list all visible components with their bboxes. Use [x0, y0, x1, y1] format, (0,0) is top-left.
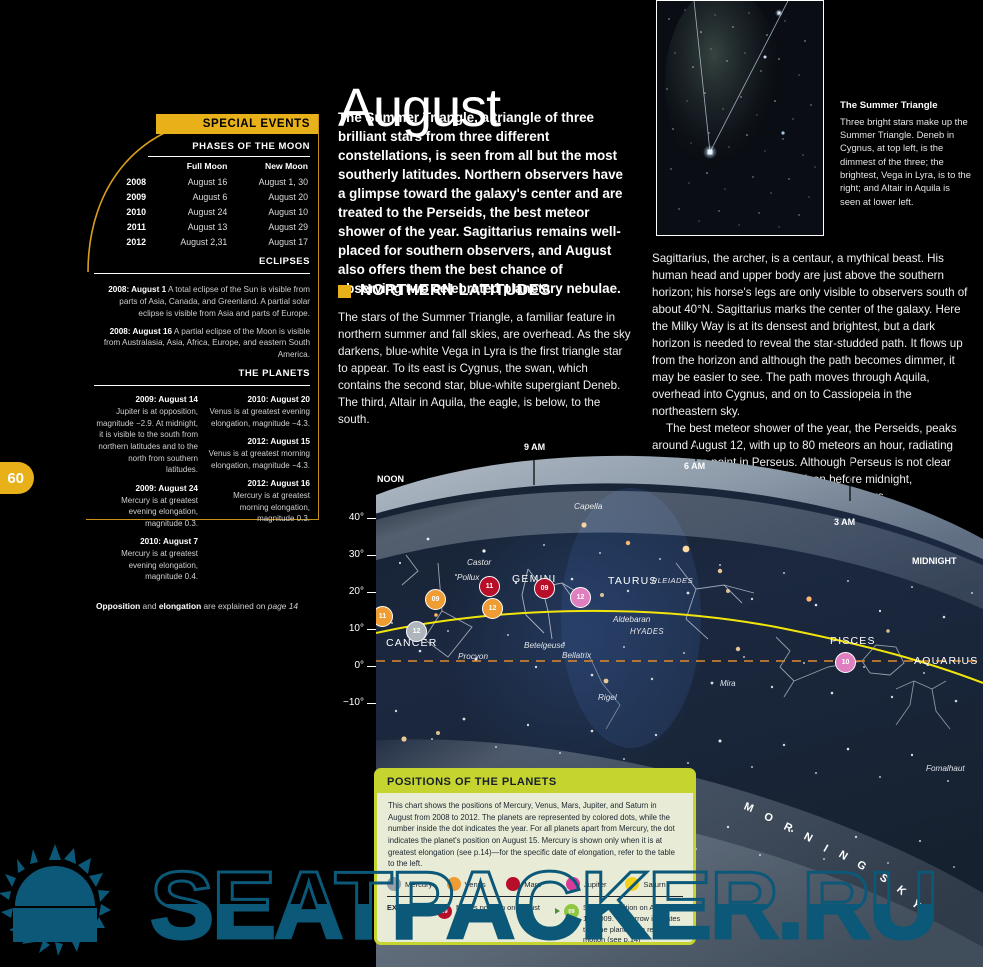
y-tick-label: 0° [354, 660, 364, 671]
star-label-mira: Mira [720, 679, 736, 688]
y-tick-label: 30° [349, 549, 364, 560]
planet-event-text: Jupiter is at opposition, magnitude −2.9… [96, 407, 198, 474]
eclipses-heading: ECLIPSES [86, 249, 318, 271]
planet-event-text: Mercury is at greatest evening elongatio… [121, 496, 198, 528]
planet-marker[interactable]: 09 [534, 578, 555, 599]
examples-section: EXAMPLES 09 Mars's position on August 15… [377, 897, 693, 945]
star-label-pleiades: PLEIADES [652, 576, 693, 585]
star-label-hyades: HYADES [630, 627, 664, 636]
mars-example-dot-icon: 09 [437, 904, 452, 919]
example-saturn: 09 Saturn's position on August 15, 2009.… [555, 903, 683, 945]
table-row: 2008 August 16 August 1, 30 [86, 175, 318, 190]
eclipse-date: 2008: August 16 [110, 327, 173, 336]
cell-new-moon: August 10 [237, 205, 318, 220]
planet-legend: Mercury Venus Mars Jupiter Saturn [377, 870, 693, 891]
mercury-dot-icon [387, 877, 401, 891]
legend-item-mercury: Mercury [387, 877, 445, 891]
y-tick-label: 40° [349, 512, 364, 523]
footnote-term-2: elongation [159, 601, 201, 611]
moon-phases-table: Full Moon New Moon 2008 August 16 August… [86, 157, 318, 249]
planet-marker[interactable]: 12 [482, 598, 503, 619]
y-tick-label: 10° [349, 623, 364, 634]
row-year: 2010 [86, 205, 160, 220]
example-mars: 09 Mars's position on August 15, 2009 [437, 903, 549, 924]
y-tick-label: 20° [349, 586, 364, 597]
planet-event-date: 2012: August 15 [206, 436, 310, 448]
row-year: 2009 [86, 190, 160, 205]
star-label-pollux: Pollux [457, 573, 479, 582]
square-bullet-icon [338, 285, 351, 298]
col-full-moon: Full Moon [160, 157, 237, 175]
planet-marker[interactable]: 12 [570, 587, 591, 608]
legend-item-saturn: Saturn [625, 877, 683, 891]
row-year: 2011 [86, 219, 160, 234]
retrograde-arrow-icon [555, 908, 560, 914]
legend-label: Venus [465, 880, 486, 889]
photo-caption-text: Three bright stars make up the Summer Tr… [840, 116, 971, 207]
cell-full-moon: August 2,31 [160, 234, 237, 249]
planet-marker[interactable]: 09 [425, 589, 446, 610]
jupiter-dot-icon [566, 877, 580, 891]
planet-marker[interactable]: 11 [479, 576, 500, 597]
legend-label: Mercury [405, 880, 432, 889]
venus-dot-icon [447, 877, 461, 891]
time-label-noon: NOON [377, 474, 404, 484]
examples-label: EXAMPLES [387, 903, 431, 912]
star-label-rigel: Rigel [598, 693, 617, 702]
col-year [86, 157, 160, 175]
legend-label: Mars [524, 880, 541, 889]
eclipse-entry: 2008: August 1 A total eclipse of the Su… [86, 278, 318, 320]
footnote-term-1: Opposition [96, 601, 140, 611]
page-number: 60 [7, 470, 24, 487]
summer-triangle-photo [656, 0, 824, 236]
cell-new-moon: August 17 [237, 234, 318, 249]
legend-item-mars: Mars [506, 877, 564, 891]
star-label-capella: Capella [574, 501, 602, 511]
declination-axis: 40° 30° 20° 10° 0° −10° [325, 520, 380, 730]
y-tick-label: −10° [343, 697, 364, 708]
star-label-betelgeuse: Betelgeuse [524, 641, 565, 650]
divider [94, 385, 310, 386]
legend-label: Saturn [643, 880, 665, 889]
sagittarius-paragraph-1: Sagittarius, the archer, is a centaur, a… [652, 250, 974, 420]
footnote-conjunction: and [140, 601, 159, 611]
northern-latitudes-heading-label: NORTHERN LATITUDES [360, 282, 551, 300]
star-label-aldebaran: Aldebaran [613, 615, 650, 624]
intro-paragraph: The Summer Triangle, a triangle of three… [338, 108, 628, 298]
example-text: Mars's position on August 15, 2009 [456, 903, 549, 924]
legend-item-jupiter: Jupiter [566, 877, 624, 891]
planets-column-right: 2010: August 20 Venus is at greatest eve… [206, 394, 310, 583]
time-label-midnight: MIDNIGHT [912, 556, 957, 566]
planet-event-date: 2010: August 7 [94, 536, 198, 548]
cell-full-moon: August 16 [160, 175, 237, 190]
cell-new-moon: August 20 [237, 190, 318, 205]
saturn-dot-icon [625, 877, 639, 891]
time-label-6am: 6 AM [684, 461, 705, 471]
star-label-fomalhaut: Fomalhaut [926, 764, 965, 773]
planet-event-text: Mercury is at greatest morning elongatio… [233, 491, 310, 523]
northern-latitudes-heading: NORTHERN LATITUDES [338, 282, 551, 300]
special-events-footnote: Opposition and elongation are explained … [86, 583, 318, 611]
cell-new-moon: August 29 [237, 219, 318, 234]
mars-dot-icon [506, 877, 520, 891]
table-row: 2009 August 6 August 20 [86, 190, 318, 205]
planet-event-date: 2009: August 24 [94, 483, 198, 495]
footnote-page-ref: page 14 [268, 601, 298, 611]
saturn-example-dot-icon: 09 [564, 904, 579, 919]
star-label-procyon: Procyon [458, 652, 488, 661]
table-row: 2011 August 13 August 29 [86, 219, 318, 234]
col-new-moon: New Moon [237, 157, 318, 175]
table-row: 2012 August 2,31 August 17 [86, 234, 318, 249]
planet-event-date: 2012: August 16 [206, 478, 310, 490]
footnote-tail: are explained on [201, 601, 268, 611]
the-planets-heading: THE PLANETS [86, 361, 318, 383]
page-number-tab: 60 [0, 462, 34, 494]
cell-full-moon: August 24 [160, 205, 237, 220]
planets-column-left: 2009: August 14 Jupiter is at opposition… [94, 394, 198, 583]
divider [94, 273, 310, 274]
time-label-3am: 3 AM [834, 517, 855, 527]
photo-caption-title: The Summer Triangle [840, 99, 972, 113]
positions-box-heading: POSITIONS OF THE PLANETS [377, 771, 693, 793]
planet-event-text: Venus is at greatest evening elongation,… [209, 407, 310, 428]
cell-full-moon: August 6 [160, 190, 237, 205]
constellation-label-taurus: TAURUS [608, 575, 658, 587]
eclipse-date: 2008: August 1 [108, 285, 166, 294]
northern-latitudes-body: The stars of the Summer Triangle, a fami… [338, 309, 632, 428]
planet-event-date: 2010: August 20 [206, 394, 310, 406]
cell-full-moon: August 13 [160, 219, 237, 234]
constellation-label-pisces: PISCES [830, 635, 876, 647]
planet-marker[interactable]: 12 [406, 621, 427, 642]
legend-item-venus: Venus [447, 877, 505, 891]
eclipse-entry: 2008: August 16 A partial eclipse of the… [86, 320, 318, 362]
table-header-row: Full Moon New Moon [86, 157, 318, 175]
planets-columns: 2009: August 14 Jupiter is at opposition… [86, 390, 318, 583]
example-text: Saturn's position on August 15, 2009. Th… [583, 903, 683, 945]
star-label-bellatrix: Bellatrix [562, 651, 591, 660]
planet-event-text: Mercury is at greatest evening elongatio… [121, 549, 198, 581]
sun-logo-icon [0, 844, 111, 956]
positions-of-planets-box: POSITIONS OF THE PLANETS This chart show… [374, 768, 696, 945]
cell-new-moon: August 1, 30 [237, 175, 318, 190]
table-row: 2010 August 24 August 10 [86, 205, 318, 220]
planet-marker[interactable]: 10 [835, 652, 856, 673]
planet-event-date: 2009: August 14 [94, 394, 198, 406]
phases-of-moon-heading: PHASES OF THE MOON [86, 134, 318, 156]
legend-label: Jupiter [584, 880, 607, 889]
photo-caption: The Summer Triangle Three bright stars m… [840, 99, 972, 208]
planet-event-text: Venus is at greatest morning elongation,… [209, 449, 310, 470]
row-year: 2008 [86, 175, 160, 190]
special-events-panel: SPECIAL EVENTS PHASES OF THE MOON Full M… [86, 114, 319, 520]
positions-box-body: This chart shows the positions of Mercur… [377, 793, 693, 870]
time-label-9am: 9 AM [524, 443, 545, 452]
special-events-heading: SPECIAL EVENTS [156, 114, 318, 134]
row-year: 2012 [86, 234, 160, 249]
star-label-castor: Castor [467, 558, 491, 567]
constellation-label-aquarius: AQUARIUS [914, 655, 978, 667]
